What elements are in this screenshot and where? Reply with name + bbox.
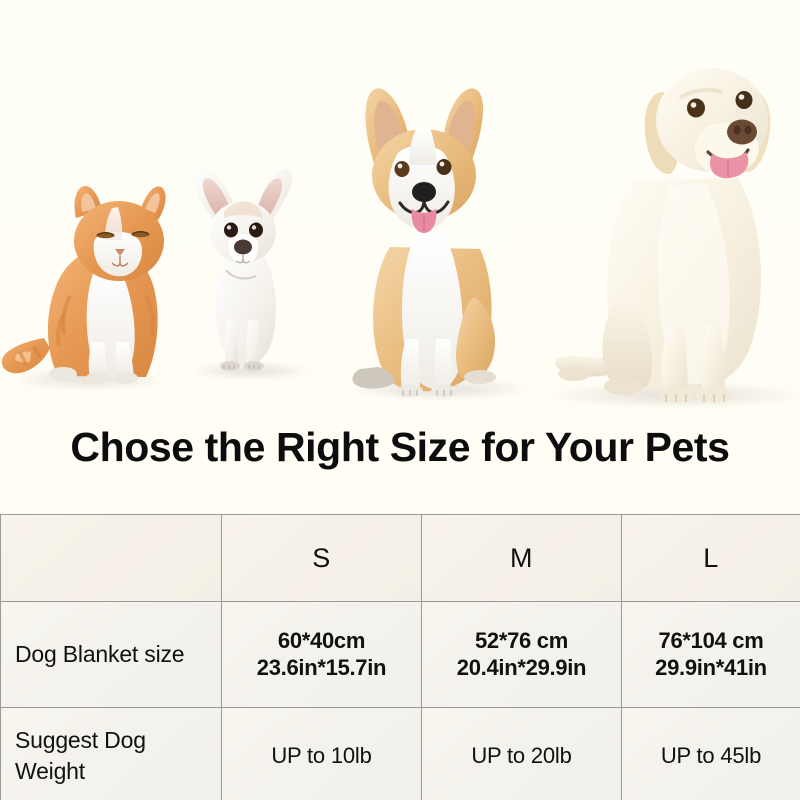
table-row-dog-weight: Suggest Dog Weight UP to 10lb UP to 20lb… — [1, 708, 800, 800]
labrador-illustration — [548, 28, 798, 408]
blanket-size-m-imperial: 20.4in*29.9in — [422, 655, 621, 682]
blanket-size-l-metric: 76*104 cm — [622, 628, 800, 655]
blanket-size-s: 60*40cm 23.6in*15.7in — [222, 602, 422, 708]
chihuahua-illustration — [178, 160, 318, 380]
blanket-size-s-metric: 60*40cm — [222, 628, 421, 655]
blanket-size-m-metric: 52*76 cm — [422, 628, 621, 655]
size-chart-table: S M L Dog Blanket size 60*40cm 23.6in*15… — [0, 514, 800, 800]
blanket-size-l: 76*104 cm 29.9in*41in — [622, 602, 800, 708]
blanket-size-l-imperial: 29.9in*41in — [622, 655, 800, 682]
row-label-line: Dog Blanket size — [15, 639, 221, 669]
page-title: Chose the Right Size for Your Pets — [0, 424, 800, 471]
dog-weight-m: UP to 20lb — [422, 708, 622, 800]
animal-lineup — [0, 0, 800, 420]
row-label-line-1: Suggest Dog — [15, 725, 221, 755]
header-size-l: L — [622, 515, 800, 602]
row-label-dog-weight: Suggest Dog Weight — [1, 708, 222, 800]
dog-weight-s: UP to 10lb — [222, 708, 422, 800]
cat-illustration — [0, 146, 190, 386]
table-header-row: S M L — [1, 515, 800, 602]
header-corner-cell — [1, 515, 222, 602]
corgi-illustration — [338, 57, 538, 402]
table-row-blanket-size: Dog Blanket size 60*40cm 23.6in*15.7in 5… — [1, 602, 800, 708]
row-label-blanket-size: Dog Blanket size — [1, 602, 222, 708]
dog-weight-l: UP to 45lb — [622, 708, 800, 800]
row-label-line-2: Weight — [15, 756, 221, 786]
header-size-s: S — [222, 515, 422, 602]
blanket-size-m: 52*76 cm 20.4in*29.9in — [422, 602, 622, 708]
header-size-m: M — [422, 515, 622, 602]
size-chart-page: Chose the Right Size for Your Pets S M L… — [0, 0, 800, 800]
blanket-size-s-imperial: 23.6in*15.7in — [222, 655, 421, 682]
